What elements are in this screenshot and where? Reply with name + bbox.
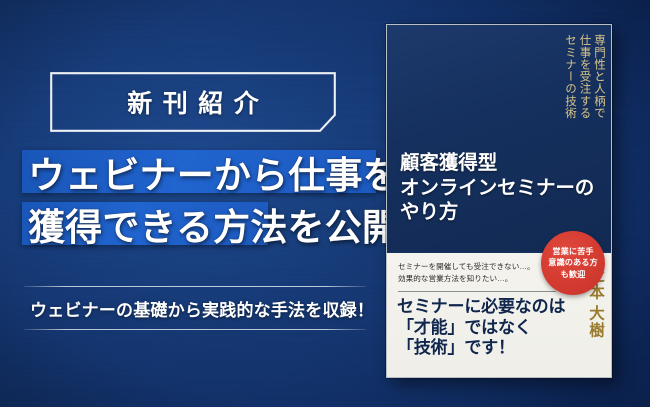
book-lead-line-1: セミナーを開催しても受注できない…。 — [398, 261, 548, 273]
book-lead-text: セミナーを開催しても受注できない…。 効果的な営業方法を知りたい…。 — [398, 261, 548, 286]
headline-row-1: ウェビナーから仕事を — [0, 146, 392, 198]
headline: ウェビナーから仕事を 獲得できる方法を公開 — [0, 146, 392, 250]
kicker-label: 新刊紹介 — [50, 72, 336, 132]
book-badge: 営業に苦手 意識のある方 も歓迎 — [541, 231, 605, 295]
headline-line-2: 獲得できる方法を公開 — [0, 197, 399, 251]
book-tagline-line-3: セミナーの技術 — [564, 34, 576, 166]
book-title: 顧客獲得型 オンラインセミナーの やり方 — [400, 151, 606, 225]
book-tagline-line-1: 専門性と人柄で — [593, 34, 605, 166]
book-claim-line-1: セミナーに必要なのは — [397, 297, 569, 318]
kicker-frame: 新刊紹介 — [50, 72, 336, 132]
book-lead-line-2: 効果的な営業方法を知りたい…。 — [398, 273, 548, 285]
book-cover-top: 専門性と人柄で 仕事を受注する セミナーの技術 顧客獲得型 オンラインセミナーの… — [387, 25, 611, 255]
subline-text: ウェビナーの基礎から実践的な手法を収録！ — [24, 287, 366, 329]
book-title-line-3: やり方 — [400, 200, 606, 225]
book-tagline-line-2: 仕事を受注する — [578, 34, 590, 166]
book-title-line-2: オンラインセミナーの — [400, 176, 606, 201]
book-cover: 専門性と人柄で 仕事を受注する セミナーの技術 顧客獲得型 オンラインセミナーの… — [386, 24, 612, 378]
book-badge-line-3: も歓迎 — [561, 269, 586, 281]
promo-banner: 新刊紹介 ウェビナーから仕事を 獲得できる方法を公開 ウェビナーの基礎から実践的… — [0, 0, 650, 407]
book-title-line-1: 顧客獲得型 — [400, 151, 606, 176]
book-badge-line-1: 営業に苦手 — [552, 246, 593, 258]
book-author-givenname: 大樹 — [588, 305, 604, 339]
headline-line-1: ウェビナーから仕事を — [0, 145, 400, 199]
book-tagline: 専門性と人柄で 仕事を受注する セミナーの技術 — [564, 34, 605, 166]
book-lead-divider — [398, 291, 556, 292]
subline-rule-bottom — [24, 329, 366, 330]
book-claim-line-2: 「才能」ではなく — [397, 318, 569, 339]
promo-text-column: 新刊紹介 ウェビナーから仕事を 獲得できる方法を公開 ウェビナーの基礎から実践的… — [0, 0, 392, 407]
book-claim-line-3: 「技術」です！ — [397, 338, 569, 359]
book-claim: セミナーに必要なのは 「才能」ではなく 「技術」です！ — [397, 297, 569, 359]
book-badge-line-2: 意識のある方 — [548, 257, 598, 269]
headline-row-2: 獲得できる方法を公開 — [0, 198, 392, 250]
subline-block: ウェビナーの基礎から実践的な手法を収録！ — [24, 286, 366, 330]
